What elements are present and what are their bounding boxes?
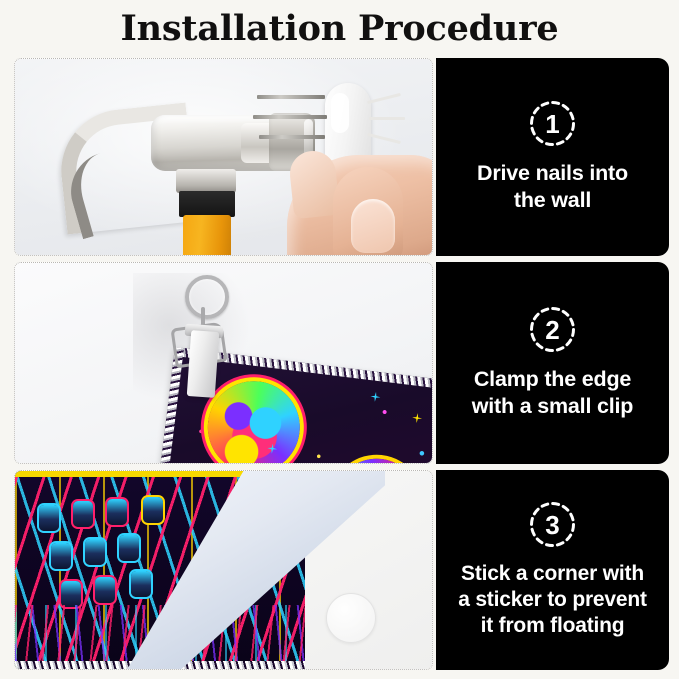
page-title: Installation Procedure (0, 7, 679, 51)
step-row-1: 1 Drive nails into the wall (14, 58, 669, 256)
step-3-number-badge: 3 (529, 501, 576, 548)
step-2-number: 2 (529, 306, 576, 353)
step-1-panel: 1 Drive nails into the wall (436, 58, 669, 256)
step-row-2: 2 Clamp the edge with a small clip (14, 262, 669, 464)
step-3-caption: Stick a corner with a sticker to prevent… (450, 561, 655, 639)
step-1-photo (14, 58, 433, 256)
step-row-3: 3 Stick a corner with a sticker to preve… (14, 470, 669, 670)
step-1-number-badge: 1 (529, 100, 576, 147)
adhesive-sticker-icon (326, 593, 376, 643)
step-2-panel: 2 Clamp the edge with a small clip (436, 262, 669, 464)
hammer-icon (55, 87, 315, 207)
step-1-caption: Drive nails into the wall (469, 160, 636, 214)
step-2-photo (14, 262, 433, 464)
installation-procedure-infographic: Installation Procedure (0, 0, 679, 679)
step-3-panel: 3 Stick a corner with a sticker to preve… (436, 470, 669, 670)
step-2-number-badge: 2 (529, 306, 576, 353)
binder-clip-icon (165, 273, 245, 413)
step-3-photo (14, 470, 433, 670)
step-3-number: 3 (529, 501, 576, 548)
step-1-number: 1 (529, 100, 576, 147)
step-2-caption: Clamp the edge with a small clip (464, 366, 641, 420)
